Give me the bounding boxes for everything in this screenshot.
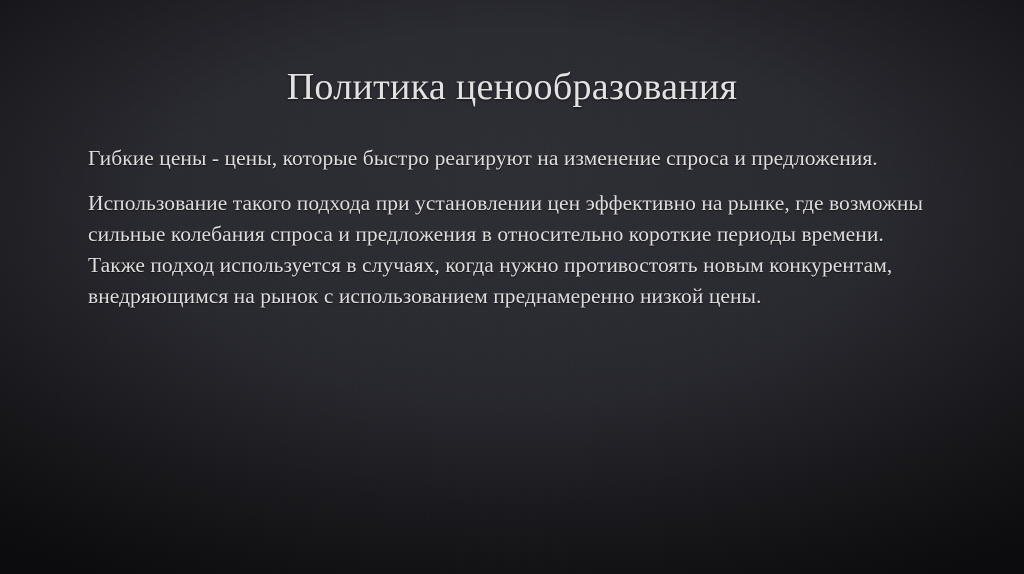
body-paragraph-2: Использование такого подхода при установ… — [88, 188, 944, 312]
slide-body: Гибкие цены - цены, которые быстро реаги… — [88, 143, 944, 312]
body-paragraph-1: Гибкие цены - цены, которые быстро реаги… — [88, 143, 944, 174]
page-title: Политика ценообразования — [0, 64, 1024, 110]
presentation-slide: Политика ценообразования Гибкие цены - ц… — [0, 0, 1024, 574]
